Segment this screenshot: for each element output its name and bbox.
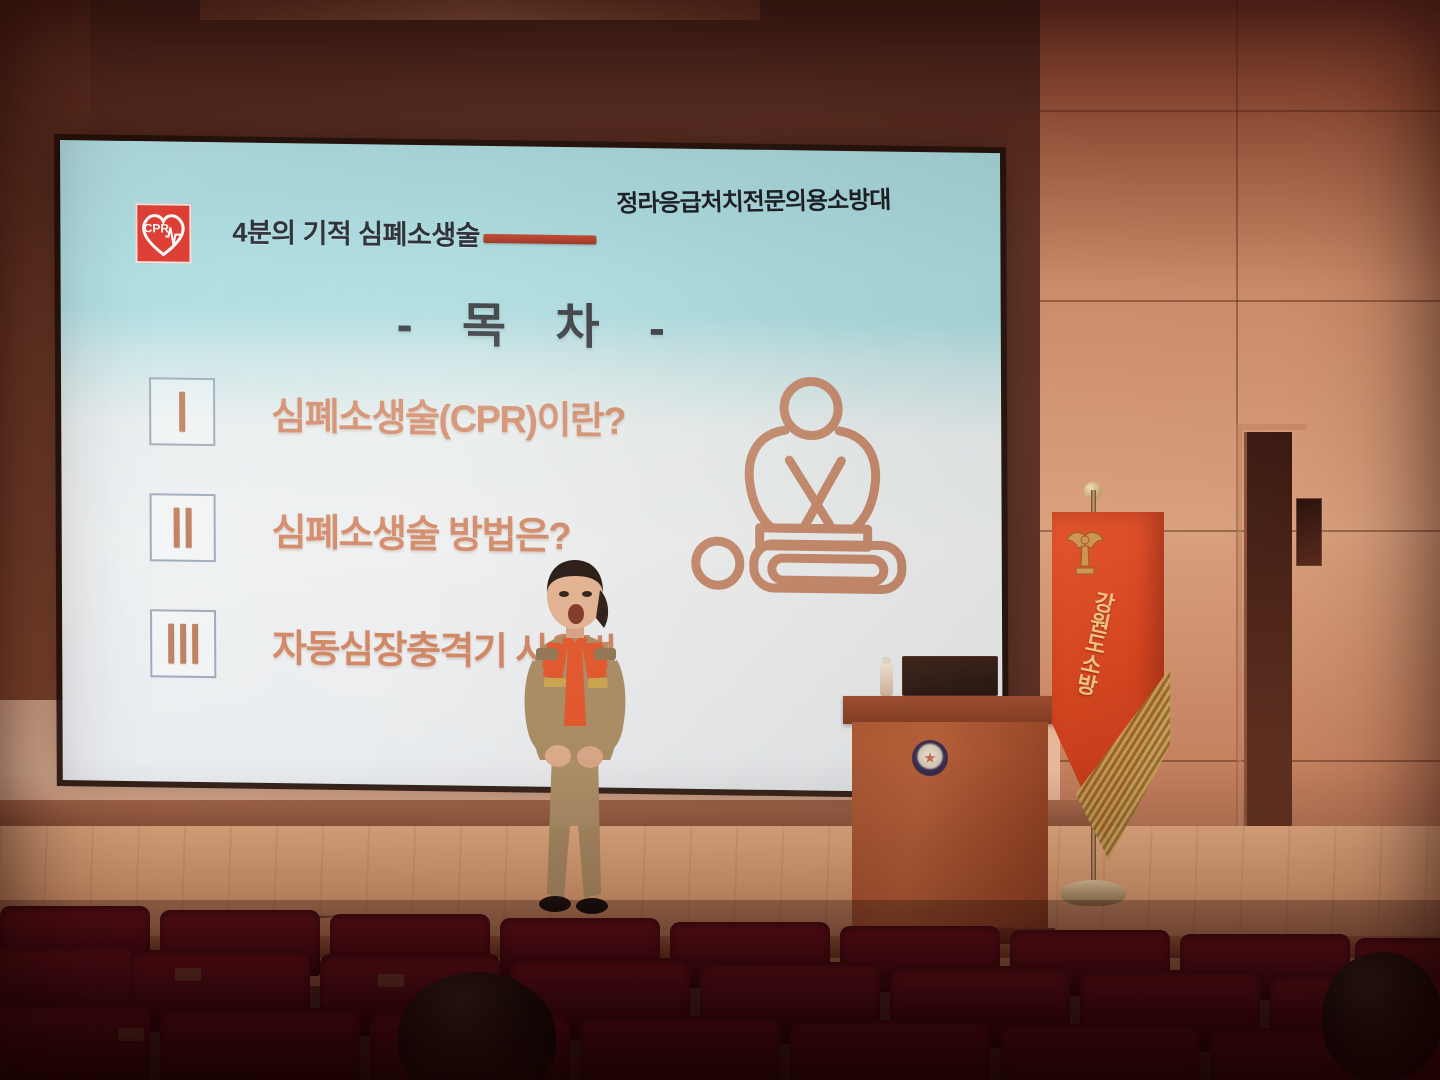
water-bottle	[880, 662, 893, 696]
cpr-compression-icon	[689, 371, 930, 604]
audience-head	[1322, 952, 1440, 1080]
title-underline-rule	[483, 234, 596, 245]
seat[interactable]	[0, 1004, 150, 1080]
flag-eagle-emblem-icon	[1062, 526, 1108, 588]
numeral-bar	[179, 392, 185, 432]
seat[interactable]	[160, 1008, 360, 1080]
svg-text:CPR: CPR	[144, 221, 170, 235]
podium-top	[843, 696, 1058, 724]
cpr-logo-icon: CPR	[135, 203, 191, 264]
seat-number-plate	[378, 974, 404, 987]
ceiling-light-strip	[200, 0, 760, 20]
numeral-bar	[168, 624, 174, 664]
numeral-bar	[192, 624, 198, 664]
presenter-instructor	[500, 556, 650, 936]
audience-seating	[0, 900, 1440, 1080]
seat[interactable]	[1000, 1024, 1200, 1080]
numeral-box-1	[149, 377, 215, 446]
numeral-bar	[174, 508, 180, 548]
laptop[interactable]	[902, 656, 998, 696]
seat[interactable]	[580, 1016, 780, 1080]
numeral-box-2	[150, 493, 216, 562]
organization-name: 정라응급처치전문의용소방대	[616, 180, 891, 219]
numeral-bar	[180, 624, 186, 664]
wall-tile-line	[1040, 110, 1440, 112]
table-of-contents-heading: - 목 차 -	[61, 280, 1001, 363]
bottle-cap	[882, 657, 891, 664]
lecture-hall-scene: CPR 4분의 기적 심폐소생술 정라응급처치전문의용소방대 - 목 차 - 심…	[0, 0, 1440, 1080]
agenda-item: 심폐소생술(CPR)이란?	[149, 373, 710, 497]
agenda-item-label-1: 심폐소생술(CPR)이란?	[271, 385, 625, 445]
seat[interactable]	[790, 1020, 990, 1080]
slide-title: 4분의 기적 심폐소생술	[232, 210, 480, 252]
agenda-item-label-2: 심폐소생술 방법은?	[272, 501, 571, 560]
seat-number-plate	[175, 968, 201, 981]
numeral-box-3	[150, 609, 216, 678]
seat-number-plate	[118, 1028, 144, 1041]
wall-tile-line	[1040, 300, 1440, 302]
numeral-bar	[186, 508, 192, 548]
door-sign-panel	[1296, 498, 1322, 566]
